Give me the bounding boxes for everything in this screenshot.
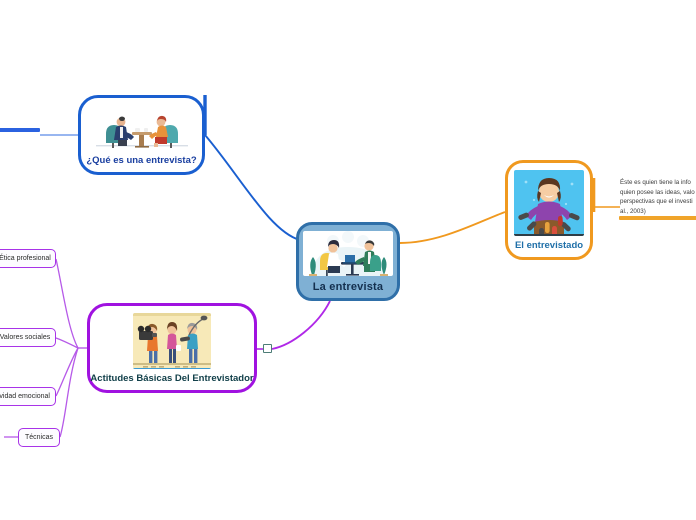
- subnode-tecnicas[interactable]: Técnicas: [18, 428, 60, 447]
- node-entrevistado-label: El entrevistado: [515, 241, 583, 252]
- person-with-microphones-illustration: [514, 170, 584, 236]
- mindmap-canvas[interactable]: o entre dos o: [0, 0, 696, 520]
- subnode-etica-profesional[interactable]: Ética profesional: [0, 249, 56, 268]
- connector-central-to-que-es: [205, 135, 300, 240]
- connector-sub-valores: [56, 338, 78, 348]
- node-actitudes-basicas[interactable]: Actitudes Básicas Del Entrevistador: [87, 303, 257, 393]
- interview-table-illustration: [303, 231, 393, 276]
- central-node-la-entrevista[interactable]: La entrevista: [296, 222, 400, 301]
- connector-sub-creatividad: [56, 348, 78, 396]
- connector-sub-etica: [56, 259, 78, 348]
- reporters-filming-illustration: [133, 313, 211, 369]
- connector-central-to-entrevistado: [400, 212, 505, 243]
- node-el-entrevistado[interactable]: El entrevistado: [505, 160, 593, 260]
- node-actitudes-label: Actitudes Básicas Del Entrevistador: [90, 374, 253, 385]
- entrevistado-note-text: Éste es quien tiene la info quien posee …: [620, 178, 696, 216]
- subnode-creatividad-emocional-label: atividad emocional: [0, 393, 50, 400]
- que-es-note-underline: [0, 128, 40, 132]
- node-que-es-una-entrevista[interactable]: ¿Qué es una entrevista?: [78, 95, 205, 175]
- central-node-label: La entrevista: [313, 281, 383, 294]
- subnode-tecnicas-label: Técnicas: [25, 434, 53, 441]
- que-es-note-text: o entre dos o: [0, 110, 40, 120]
- entrevistado-note-underline: [619, 216, 696, 220]
- node-que-es-label: ¿Qué es una entrevista?: [86, 156, 196, 167]
- entrevistado-note-line-1: Éste es quien tiene la info: [620, 178, 696, 188]
- subnode-etica-profesional-label: Ética profesional: [0, 255, 51, 262]
- subnode-valores-sociales-label: Valores sociales: [0, 334, 50, 341]
- connector-central-to-actitudes: [272, 301, 330, 349]
- expand-collapse-square-icon[interactable]: [263, 344, 272, 353]
- subnode-valores-sociales[interactable]: Valores sociales: [0, 328, 56, 347]
- entrevistado-note-line-3: perspectivas que el investi: [620, 197, 696, 207]
- entrevistado-note-line-2: quien posee las ideas, valo: [620, 188, 696, 198]
- entrevistado-note-line-4: al., 2003): [620, 207, 696, 217]
- subnode-creatividad-emocional[interactable]: atividad emocional: [0, 387, 56, 406]
- connector-sub-tecnicas: [60, 348, 78, 437]
- two-people-interview-illustration: [88, 105, 196, 151]
